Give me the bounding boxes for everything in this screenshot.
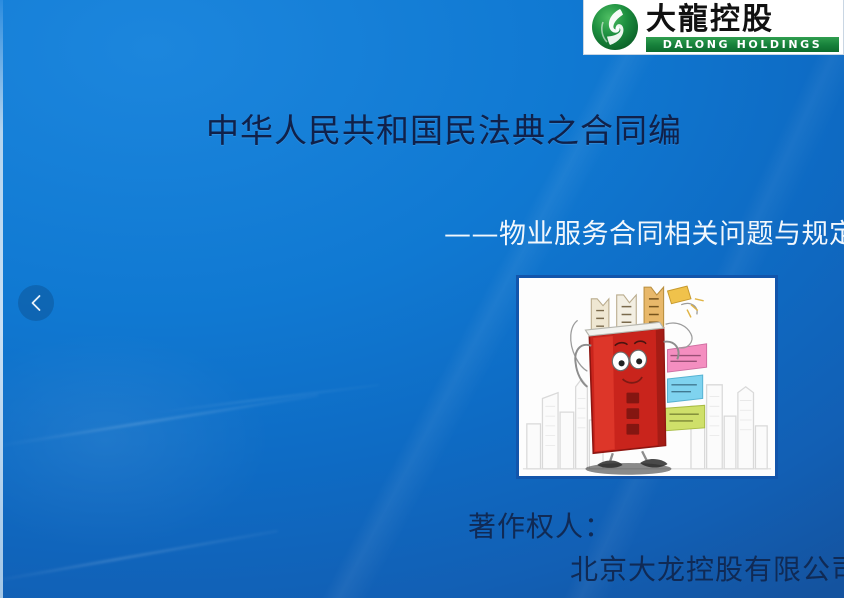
dalong-emblem-icon [590,2,640,52]
previous-slide-button[interactable] [18,285,54,321]
presentation-slide-viewer: 大龍控股 DALONG HOLDINGS 中华人民共和国民法典之合同编 ——物业… [0,0,844,598]
logo-chinese-name: 大龍控股 [646,4,839,36]
slide-illustration [516,275,778,479]
chevron-left-icon [28,294,44,312]
slide-left-edge-highlight [0,0,3,598]
illustration-canvas [519,278,775,476]
logo-english-name: DALONG HOLDINGS [646,37,839,52]
author-name: 北京大龙控股有限公司 [570,552,844,588]
company-logo: 大龍控股 DALONG HOLDINGS [583,0,844,55]
slide-title: 中华人民共和国民法典之合同编 [206,109,682,153]
slide-subtitle: ——物业服务合同相关问题与规定 [444,217,844,253]
civil-code-book-illustration-icon [519,278,775,476]
logo-text-column: 大龍控股 DALONG HOLDINGS [646,2,839,52]
author-label: 著作权人： [468,509,613,545]
